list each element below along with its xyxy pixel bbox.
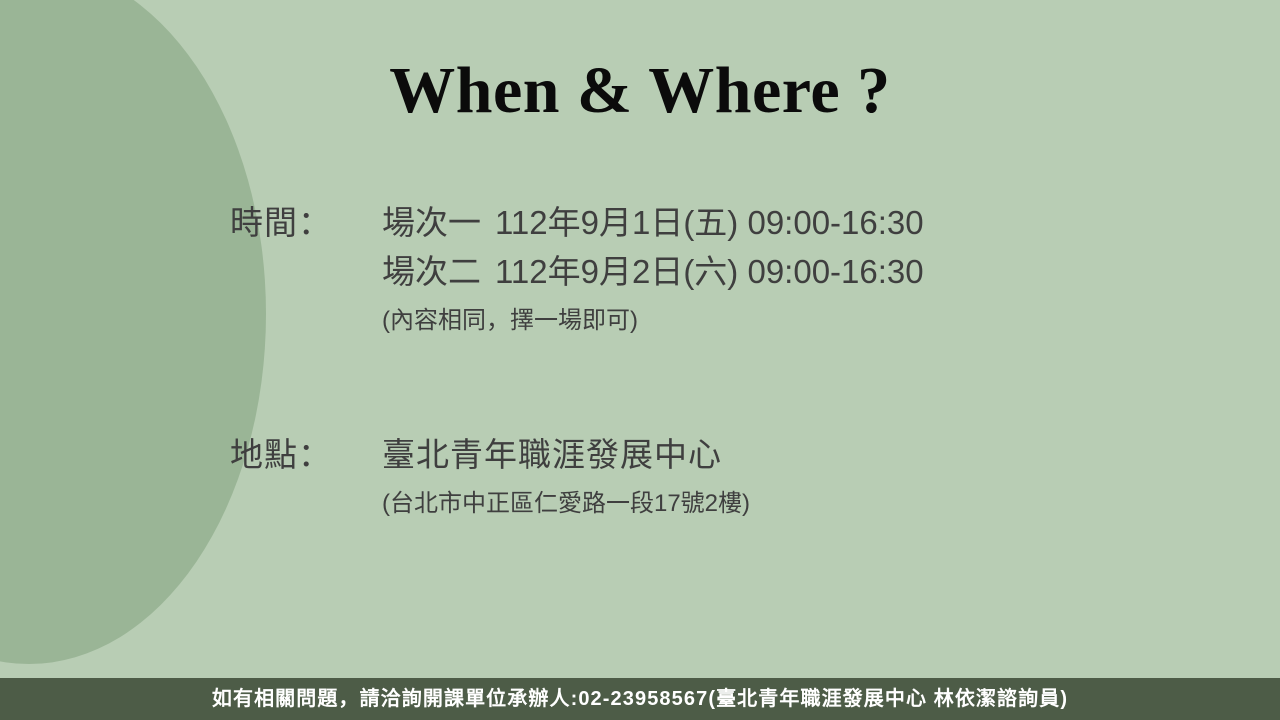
place-row: 地點： 臺北青年職涯發展中心 (台北市中正區仁愛路一段17號2樓)	[230, 430, 750, 525]
footer-contact-text: 如有相關問題，請洽詢開課單位承辦人:02-23958567(臺北青年職涯發展中心…	[212, 689, 1068, 709]
session-one-tag: 場次一	[382, 204, 481, 241]
session-one-detail: 112年9月1日(五) 09:00-16:30	[495, 204, 924, 241]
time-note: (內容相同，擇一場即可)	[382, 296, 924, 342]
place-values: 臺北青年職涯發展中心 (台北市中正區仁愛路一段17號2樓)	[382, 430, 750, 525]
session-one-line: 場次一112年9月1日(五) 09:00-16:30	[382, 198, 924, 247]
time-row-session-one: 時間： 場次一112年9月1日(五) 09:00-16:30 場次二112年9月…	[230, 198, 924, 342]
place-label: 地點：	[230, 430, 382, 479]
session-two-line: 場次二112年9月2日(六) 09:00-16:30	[382, 247, 924, 296]
footer-contact-bar: 如有相關問題，請洽詢開課單位承辦人:02-23958567(臺北青年職涯發展中心…	[0, 678, 1280, 720]
venue-address: (台北市中正區仁愛路一段17號2樓)	[382, 479, 750, 525]
session-two-tag: 場次二	[382, 253, 481, 290]
place-section: 地點： 臺北青年職涯發展中心 (台北市中正區仁愛路一段17號2樓)	[230, 430, 750, 525]
time-values: 場次一112年9月1日(五) 09:00-16:30 場次二112年9月2日(六…	[382, 198, 924, 342]
page-title: When & Where ?	[0, 58, 1280, 124]
slide-canvas: When & Where ? 時間： 場次一112年9月1日(五) 09:00-…	[0, 0, 1280, 720]
venue-name: 臺北青年職涯發展中心	[382, 430, 750, 479]
session-two-detail: 112年9月2日(六) 09:00-16:30	[495, 253, 924, 290]
slide-content: When & Where ? 時間： 場次一112年9月1日(五) 09:00-…	[0, 0, 1280, 678]
time-section: 時間： 場次一112年9月1日(五) 09:00-16:30 場次二112年9月…	[230, 198, 924, 342]
time-label: 時間：	[230, 198, 382, 247]
